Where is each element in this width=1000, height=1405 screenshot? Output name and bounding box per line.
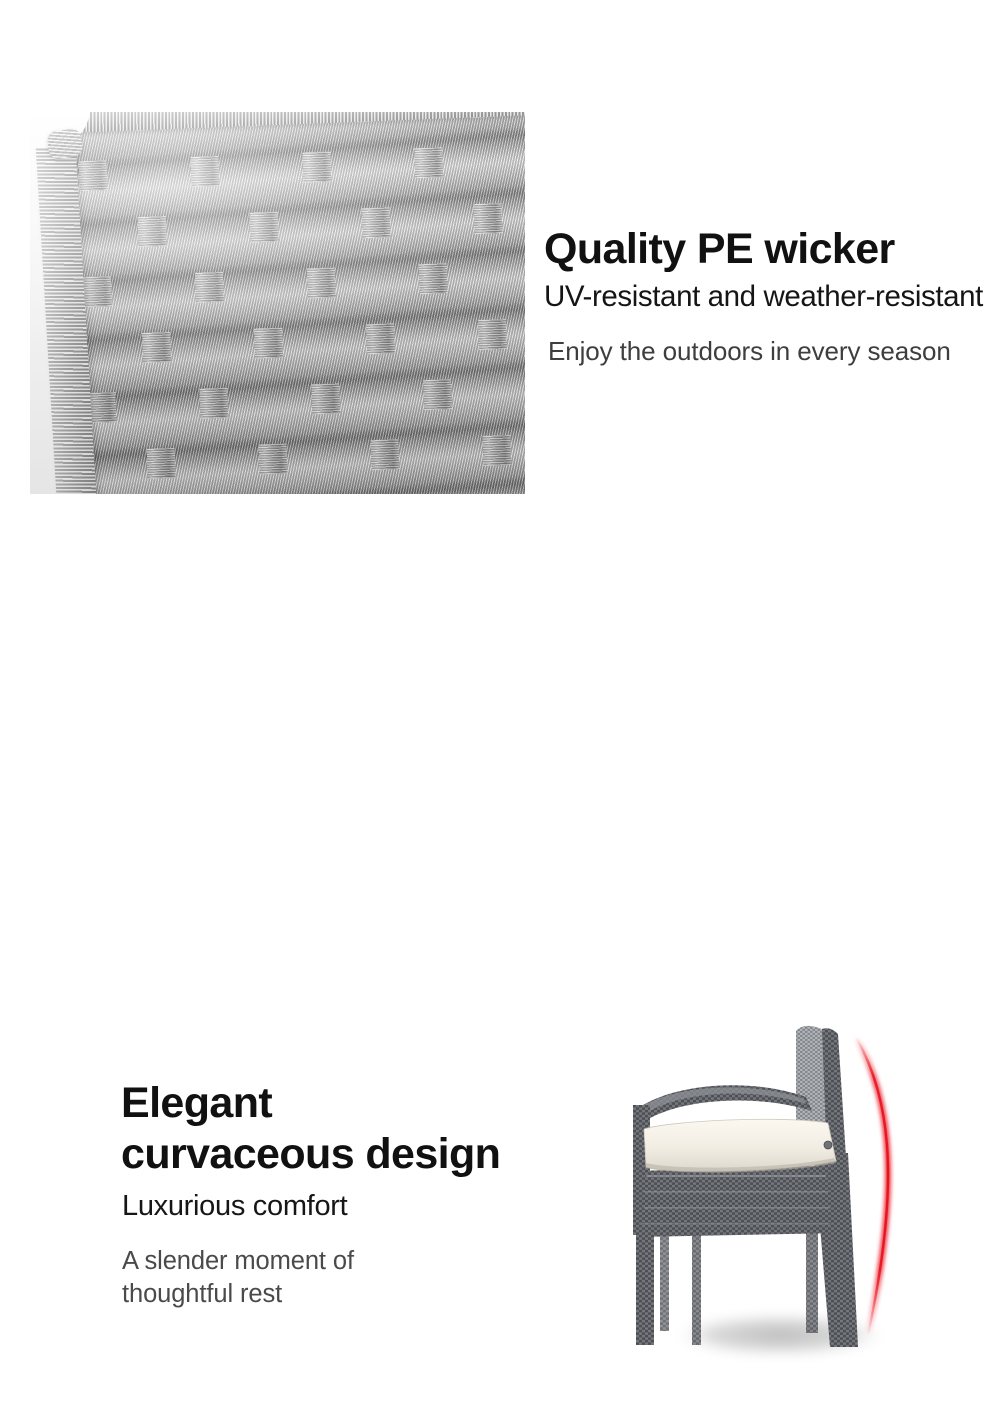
- top-subheading: UV-resistant and weather-resistant: [544, 278, 1000, 316]
- product-feature-image: Quality PE wicker UV-resistant and weath…: [0, 0, 1000, 1000]
- bottom-heading-line1: Elegant: [121, 1079, 272, 1127]
- top-heading: Quality PE wicker: [544, 222, 1000, 276]
- weave-cross-row: [30, 432, 525, 487]
- weave-cross-row: [30, 140, 525, 195]
- weave-cross-row: [30, 316, 525, 371]
- bottom-feature-panel: Elegant curvaceous design Luxurious comf…: [0, 500, 1000, 1000]
- chair-front-leg-inner: [660, 1233, 669, 1331]
- curvaceous-accent-curve-core: [856, 1037, 888, 1335]
- bottom-tertiary-line2: thoughtful rest: [122, 1280, 282, 1308]
- weave-cross-row: [30, 372, 525, 427]
- bottom-tertiary: A slender moment of thoughtful rest: [122, 1245, 541, 1311]
- wicker-photo-inner: [30, 112, 525, 494]
- bottom-heading-line2: curvaceous design: [121, 1130, 500, 1178]
- armchair-illustration: [600, 1005, 1000, 1405]
- bottom-heading: Elegant curvaceous design: [121, 1078, 541, 1180]
- chair-front-leg: [636, 1233, 654, 1345]
- top-text-block: Quality PE wicker UV-resistant and weath…: [544, 222, 1000, 368]
- chair-rear-leg-inner: [806, 1233, 818, 1333]
- bottom-tertiary-line1: A slender moment of: [122, 1247, 354, 1275]
- wicker-weave-texture: [30, 112, 525, 494]
- wicker-armchair-image: [600, 1005, 1000, 1405]
- top-tertiary: Enjoy the outdoors in every season: [548, 334, 1000, 368]
- weave-cross-row: [30, 200, 525, 255]
- bottom-subheading: Luxurious comfort: [122, 1187, 541, 1225]
- bottom-text-block: Elegant curvaceous design Luxurious comf…: [121, 1078, 541, 1311]
- top-feature-panel: Quality PE wicker UV-resistant and weath…: [0, 0, 1000, 500]
- weave-cross-row: [30, 488, 525, 494]
- pe-wicker-closeup-image: [30, 112, 525, 494]
- chair-bolt-detail: [824, 1141, 832, 1149]
- weave-cross-row: [30, 256, 525, 311]
- curvaceous-accent-curve: [856, 1037, 888, 1335]
